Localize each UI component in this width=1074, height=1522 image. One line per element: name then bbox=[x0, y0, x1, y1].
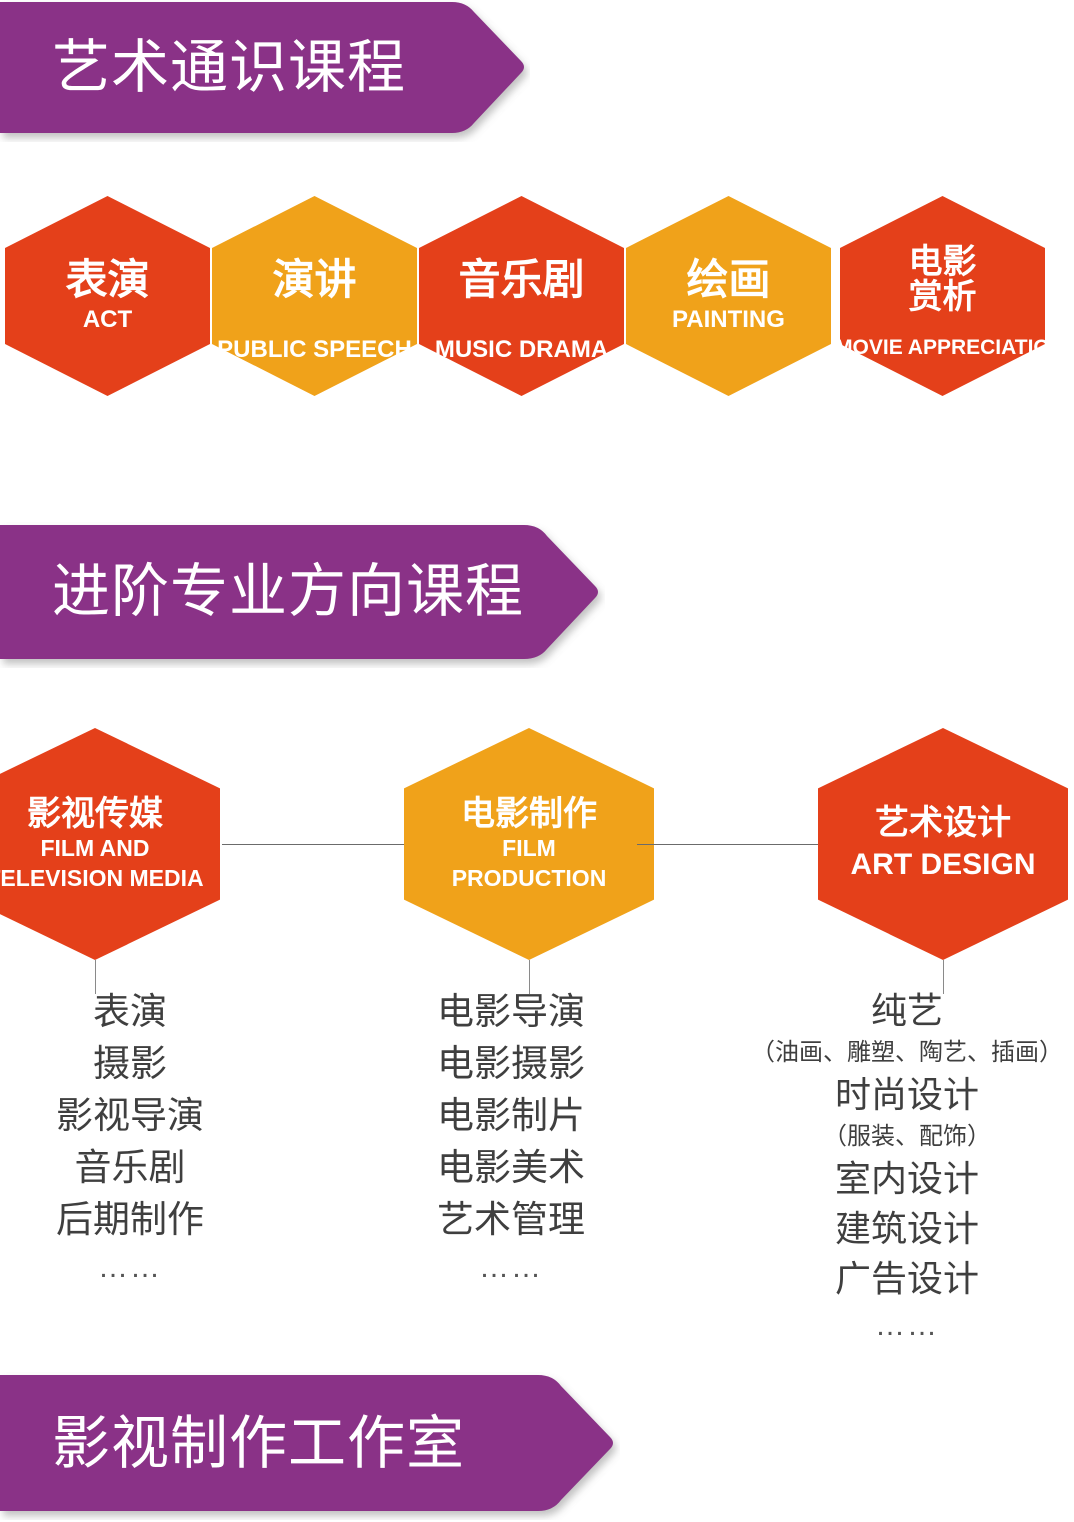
major-1-list: 表演 摄影 影视导演 音乐剧 后期制作 …… bbox=[0, 986, 260, 1290]
hex-tile-music-drama[interactable]: 音乐剧 X bbox=[419, 196, 624, 396]
list-item: 影视导演 bbox=[0, 1090, 260, 1142]
major-2-list: 电影导演 电影摄影 电影制片 电影美术 艺术管理 …… bbox=[380, 986, 642, 1290]
hex-tile-act-cn: 表演 bbox=[65, 259, 149, 301]
list-item-sub: （油画、雕塑、陶艺、插画） bbox=[740, 1036, 1074, 1070]
hex-tile-public-speech-cn: 演讲 bbox=[272, 259, 356, 301]
hex-tile-act-en: ACT bbox=[83, 307, 132, 333]
list-item: 音乐剧 bbox=[0, 1142, 260, 1194]
hex-tile-music-drama-cn: 音乐剧 bbox=[458, 259, 584, 301]
banner-3-label: 影视制作工作室 bbox=[52, 1396, 465, 1480]
list-item: 纯艺 bbox=[740, 986, 1074, 1036]
hex-tile-painting-en: PAINTING bbox=[672, 307, 785, 333]
list-item: 广告设计 bbox=[740, 1254, 1074, 1304]
major-hex-film-television-media[interactable] bbox=[0, 728, 220, 960]
list-item: 后期制作 bbox=[0, 1194, 260, 1246]
connector-2-3 bbox=[637, 844, 823, 845]
hex-tile-painting[interactable]: 绘画 PAINTING bbox=[626, 196, 831, 396]
list-item: 室内设计 bbox=[740, 1154, 1074, 1204]
list-item-sub: （服装、配饰） bbox=[740, 1120, 1074, 1154]
major-hex-film-production[interactable] bbox=[404, 728, 654, 960]
list-item: 电影摄影 bbox=[380, 1038, 642, 1090]
hex-tile-public-speech[interactable]: 演讲 X bbox=[212, 196, 417, 396]
hex-tile-painting-cn: 绘画 bbox=[686, 259, 770, 301]
major-3-list: 纯艺 （油画、雕塑、陶艺、插画） 时尚设计 （服装、配饰） 室内设计 建筑设计 … bbox=[740, 986, 1074, 1348]
list-more-indicator: …… bbox=[0, 1246, 260, 1290]
list-more-indicator: …… bbox=[740, 1304, 1074, 1348]
list-item: 电影导演 bbox=[380, 986, 642, 1038]
list-item: 建筑设计 bbox=[740, 1204, 1074, 1254]
banner-advanced-major-courses: 进阶专业方向课程 bbox=[0, 522, 605, 668]
major-hex-art-design[interactable] bbox=[818, 728, 1068, 960]
general-courses-row: 表演 ACT 演讲 X PUBLIC SPEECH 音乐剧 X MUSIC DR… bbox=[0, 196, 1074, 396]
list-item: 表演 bbox=[0, 986, 260, 1038]
list-item: 电影美术 bbox=[380, 1142, 642, 1194]
list-item: 时尚设计 bbox=[740, 1070, 1074, 1120]
list-item: 摄影 bbox=[0, 1038, 260, 1090]
banner-2-label: 进阶专业方向课程 bbox=[52, 544, 524, 628]
hex-tile-movie-appreciation[interactable]: 电影 赏析 X bbox=[840, 196, 1045, 396]
banner-art-general-courses: 艺术通识课程 bbox=[0, 0, 530, 142]
hex-tile-movie-appreciation-cn2: 赏析 bbox=[909, 280, 977, 315]
hex-tile-movie-appreciation-cn1: 电影 bbox=[909, 245, 977, 280]
hex-tile-act[interactable]: 表演 ACT bbox=[5, 196, 210, 396]
banner-film-production-studio: 影视制作工作室 bbox=[0, 1372, 620, 1520]
majors-row: 影视传媒 FILM AND TELEVISION MEDIA 电影制作 FILM… bbox=[0, 728, 1074, 968]
list-item: 电影制片 bbox=[380, 1090, 642, 1142]
list-more-indicator: …… bbox=[380, 1246, 642, 1290]
connector-1-2 bbox=[222, 844, 404, 845]
banner-1-label: 艺术通识课程 bbox=[52, 20, 406, 104]
list-item: 艺术管理 bbox=[380, 1194, 642, 1246]
